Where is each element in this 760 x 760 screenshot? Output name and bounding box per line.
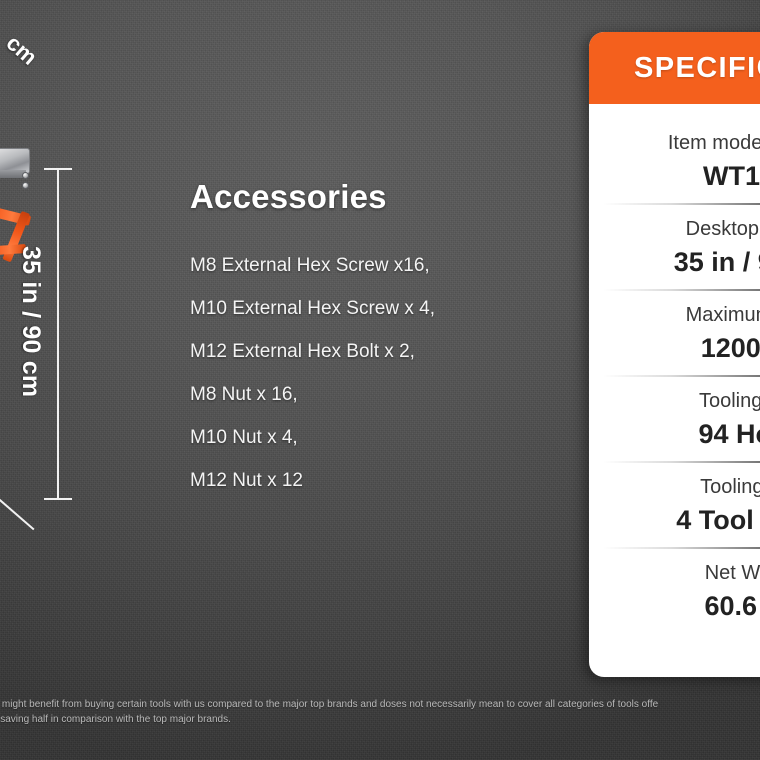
spec-value: 94 Holes [613,416,760,452]
spec-label: Maximum Load [613,300,760,330]
spec-row: Tooling Tray 4 Tool Trays [589,461,760,547]
bracket-knob-icon [22,172,29,179]
spec-value: 35 in / 90 cm [613,244,760,280]
accessory-item: M8 Nut x 16, [190,373,520,416]
accessory-item: M8 External Hex Screw x16, [190,244,520,287]
spec-label: Item model number [613,128,760,158]
dimension-line-vertical [57,168,59,500]
accessory-item: M12 Nut x 12 [190,459,520,502]
spec-label: Net Weight [613,558,760,588]
accessory-item: M10 Nut x 4, [190,416,520,459]
height-dimension-line [40,168,76,500]
specification-title: SPECIFICATION [634,52,760,85]
specification-header: SPECIFICATION [589,32,760,104]
accessory-item: M12 External Hex Bolt x 2, [190,330,520,373]
height-dimension-label: 35 in / 90 cm [16,246,45,397]
specification-panel: SPECIFICATION Item model number WT1200 D… [589,32,760,677]
spec-value: 1200 lbs [613,330,760,366]
spec-label: Tooling Tray [613,472,760,502]
spec-label: Desktop Height [613,214,760,244]
footer-line: lly saving half in comparison with the t… [0,712,760,727]
spec-row: Desktop Height 35 in / 90 cm [589,203,760,289]
spec-row: Net Weight 60.6 lbs [589,547,760,633]
spec-row: Maximum Load 1200 lbs [589,289,760,375]
spec-label: Tooling Hole [613,386,760,416]
spec-row: Item model number WT1200 [589,126,760,203]
footer-disclaimer: ou might benefit from buying certain too… [0,697,760,727]
depth-dimension-line [0,470,90,560]
spec-value: 60.6 lbs [613,588,760,624]
dimension-line-diagonal [0,480,35,530]
footer-line: ou might benefit from buying certain too… [0,697,760,712]
spec-value: 4 Tool Trays [613,502,760,538]
accessory-item: M10 External Hex Screw x 4, [190,287,520,330]
bracket-knob-icon [22,182,29,189]
spec-row: Tooling Hole 94 Holes [589,375,760,461]
specification-rows: Item model number WT1200 Desktop Height … [589,104,760,633]
accessories-title: Accessories [190,178,520,216]
accessories-section: Accessories M8 External Hex Screw x16, M… [190,178,520,502]
spec-value: WT1200 [613,158,760,194]
